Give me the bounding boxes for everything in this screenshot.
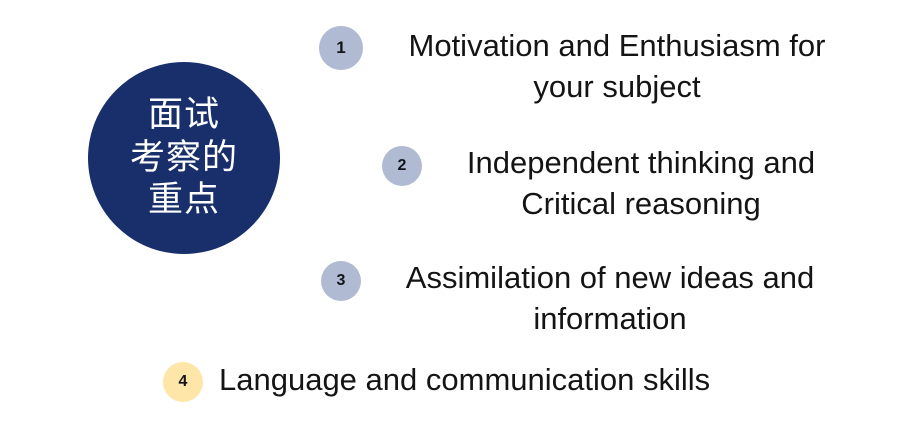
list-item: 3 Assimilation of new ideas and informat… [321, 258, 845, 340]
hub-text-line-2: 考察的 [130, 137, 238, 180]
number-badge-2: 2 [382, 146, 422, 186]
list-item-label: Motivation and Enthusiasm for your subje… [377, 26, 857, 108]
hub-text-line-3: 重点 [148, 179, 220, 222]
list-item: 4 Language and communication skills [163, 360, 799, 402]
list-item: 2 Independent thinking and Critical reas… [382, 143, 846, 225]
list-item-label: Independent thinking and Critical reason… [436, 143, 846, 225]
list-item-label: Language and communication skills [219, 360, 799, 401]
hub-text-line-1: 面试 [148, 94, 220, 137]
slide-canvas: 面试 考察的 重点 1 Motivation and Enthusiasm fo… [0, 0, 908, 441]
number-badge-4: 4 [163, 362, 203, 402]
list-item-label: Assimilation of new ideas and informatio… [375, 258, 845, 340]
number-badge-3: 3 [321, 261, 361, 301]
list-item: 1 Motivation and Enthusiasm for your sub… [319, 26, 857, 108]
interview-focus-hub-circle: 面试 考察的 重点 [88, 62, 280, 254]
number-badge-1: 1 [319, 26, 363, 70]
